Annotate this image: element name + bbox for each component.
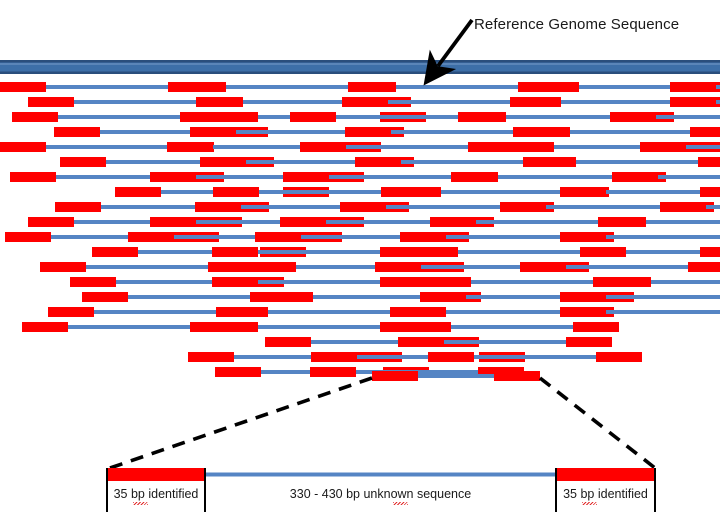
read-tag bbox=[400, 307, 446, 317]
right-identified-label: 35 bp identified bbox=[556, 487, 655, 501]
read-tag bbox=[494, 371, 540, 381]
read-tag bbox=[213, 187, 259, 197]
read-tag bbox=[345, 127, 391, 137]
read-tag bbox=[82, 292, 128, 302]
read-tag bbox=[60, 157, 106, 167]
read-tag bbox=[600, 217, 646, 227]
read-tag bbox=[425, 277, 471, 287]
read-tag bbox=[520, 262, 566, 272]
read-tag bbox=[468, 142, 514, 152]
read-tag bbox=[267, 292, 313, 302]
read-tag bbox=[560, 232, 606, 242]
read-tag bbox=[222, 307, 268, 317]
arrow-shaft bbox=[438, 20, 472, 66]
read-tag bbox=[40, 262, 86, 272]
read-tag bbox=[342, 97, 388, 107]
read-tag bbox=[375, 262, 421, 272]
read-tag bbox=[197, 97, 243, 107]
read-tag bbox=[54, 127, 100, 137]
read-tag bbox=[610, 112, 656, 122]
read-tag bbox=[290, 112, 336, 122]
read-tag bbox=[395, 187, 441, 197]
read-tag bbox=[283, 172, 329, 182]
read-tag bbox=[460, 112, 506, 122]
read-connector bbox=[658, 175, 720, 179]
read-tag bbox=[300, 142, 346, 152]
read-tag bbox=[212, 277, 258, 287]
read-tag bbox=[530, 157, 576, 167]
read-tag bbox=[115, 187, 161, 197]
read-tag bbox=[55, 202, 101, 212]
unknown-sequence-label: 330 - 430 bp unknown sequence bbox=[205, 487, 556, 501]
left-identified-label: 35 bp identified bbox=[107, 487, 205, 501]
read-tag bbox=[660, 202, 706, 212]
detail-right-block bbox=[556, 468, 655, 481]
read-tag bbox=[640, 142, 686, 152]
read-tag bbox=[150, 217, 196, 227]
read-tag bbox=[212, 322, 258, 332]
read-tag bbox=[280, 217, 326, 227]
read-tag bbox=[566, 337, 612, 347]
reference-bar-top-edge bbox=[0, 60, 720, 63]
callout-line-left bbox=[110, 378, 372, 468]
read-tag bbox=[70, 277, 116, 287]
reference-arrow-icon bbox=[438, 20, 472, 66]
read-tag bbox=[508, 142, 554, 152]
read-tag bbox=[515, 97, 561, 107]
read-tag bbox=[215, 367, 261, 377]
read-tag bbox=[524, 127, 570, 137]
sequencing-coverage-diagram bbox=[0, 0, 720, 520]
callout-dashed-lines bbox=[110, 378, 655, 468]
read-tag bbox=[452, 172, 498, 182]
read-tag bbox=[355, 157, 401, 167]
read-tag bbox=[670, 82, 716, 92]
read-tag bbox=[92, 247, 138, 257]
read-tag bbox=[500, 202, 546, 212]
read-tag bbox=[560, 307, 606, 317]
read-tag bbox=[48, 307, 94, 317]
read-tag bbox=[690, 262, 720, 272]
read-connector bbox=[686, 145, 720, 149]
figure-canvas: Reference Genome Sequence 35 bp identifi… bbox=[0, 0, 720, 520]
read-connector bbox=[706, 205, 720, 209]
read-tag bbox=[190, 127, 236, 137]
read-tag bbox=[208, 262, 254, 272]
read-connector bbox=[606, 310, 720, 314]
reference-genome-label: Reference Genome Sequence bbox=[474, 16, 679, 33]
read-tag bbox=[700, 247, 720, 257]
read-tag bbox=[0, 82, 46, 92]
read-tag bbox=[28, 217, 74, 227]
read-tag bbox=[596, 352, 642, 362]
read-connector bbox=[606, 295, 720, 299]
read-tag bbox=[311, 352, 357, 362]
read-tag bbox=[167, 142, 213, 152]
read-tag bbox=[310, 367, 356, 377]
read-tag bbox=[420, 292, 466, 302]
read-tag bbox=[605, 277, 651, 287]
read-connector bbox=[606, 235, 720, 239]
callout-line-right bbox=[540, 378, 655, 468]
read-tag bbox=[128, 232, 174, 242]
read-tag bbox=[195, 202, 241, 212]
read-tag bbox=[428, 352, 474, 362]
read-connector bbox=[646, 220, 720, 224]
read-tag bbox=[430, 217, 476, 227]
read-tag bbox=[700, 187, 720, 197]
read-tag bbox=[560, 292, 606, 302]
read-tag bbox=[212, 112, 258, 122]
read-tag bbox=[400, 232, 446, 242]
reference-bar-sheen bbox=[0, 63, 720, 65]
read-tag bbox=[150, 172, 196, 182]
read-tag bbox=[10, 172, 56, 182]
read-tag bbox=[580, 247, 626, 257]
read-connector bbox=[716, 100, 720, 104]
read-tag bbox=[5, 232, 51, 242]
spellcheck-underline-right bbox=[582, 502, 597, 505]
read-tag bbox=[340, 202, 386, 212]
read-tag bbox=[350, 82, 396, 92]
read-tag bbox=[12, 112, 58, 122]
detail-connector bbox=[205, 473, 556, 477]
read-tag bbox=[22, 322, 68, 332]
read-connector bbox=[651, 280, 720, 284]
reference-bar-bottom-edge bbox=[0, 72, 720, 75]
read-tag bbox=[670, 97, 716, 107]
read-tag bbox=[0, 142, 46, 152]
read-tag bbox=[380, 277, 426, 287]
read-tag bbox=[200, 157, 246, 167]
read-tag bbox=[405, 322, 451, 332]
reference-genome-bar bbox=[0, 60, 720, 74]
read-tag bbox=[265, 337, 311, 347]
spellcheck-underline-left bbox=[133, 502, 148, 505]
read-tag bbox=[612, 172, 658, 182]
read-connector bbox=[716, 85, 720, 89]
read-connector bbox=[656, 115, 720, 119]
spellcheck-underline-middle bbox=[393, 502, 408, 505]
read-tag bbox=[212, 247, 258, 257]
read-tag bbox=[573, 322, 619, 332]
read-tag bbox=[372, 371, 418, 381]
read-tag bbox=[398, 337, 444, 347]
read-tag bbox=[560, 187, 606, 197]
read-tag bbox=[700, 157, 720, 167]
read-tag bbox=[180, 82, 226, 92]
detail-left-block bbox=[107, 468, 205, 481]
read-pileup bbox=[0, 82, 720, 377]
read-tag bbox=[250, 262, 296, 272]
read-tag bbox=[188, 352, 234, 362]
read-tag bbox=[28, 97, 74, 107]
read-tag bbox=[255, 232, 301, 242]
read-tag bbox=[690, 127, 720, 137]
read-tag bbox=[412, 247, 458, 257]
read-tag bbox=[533, 82, 579, 92]
